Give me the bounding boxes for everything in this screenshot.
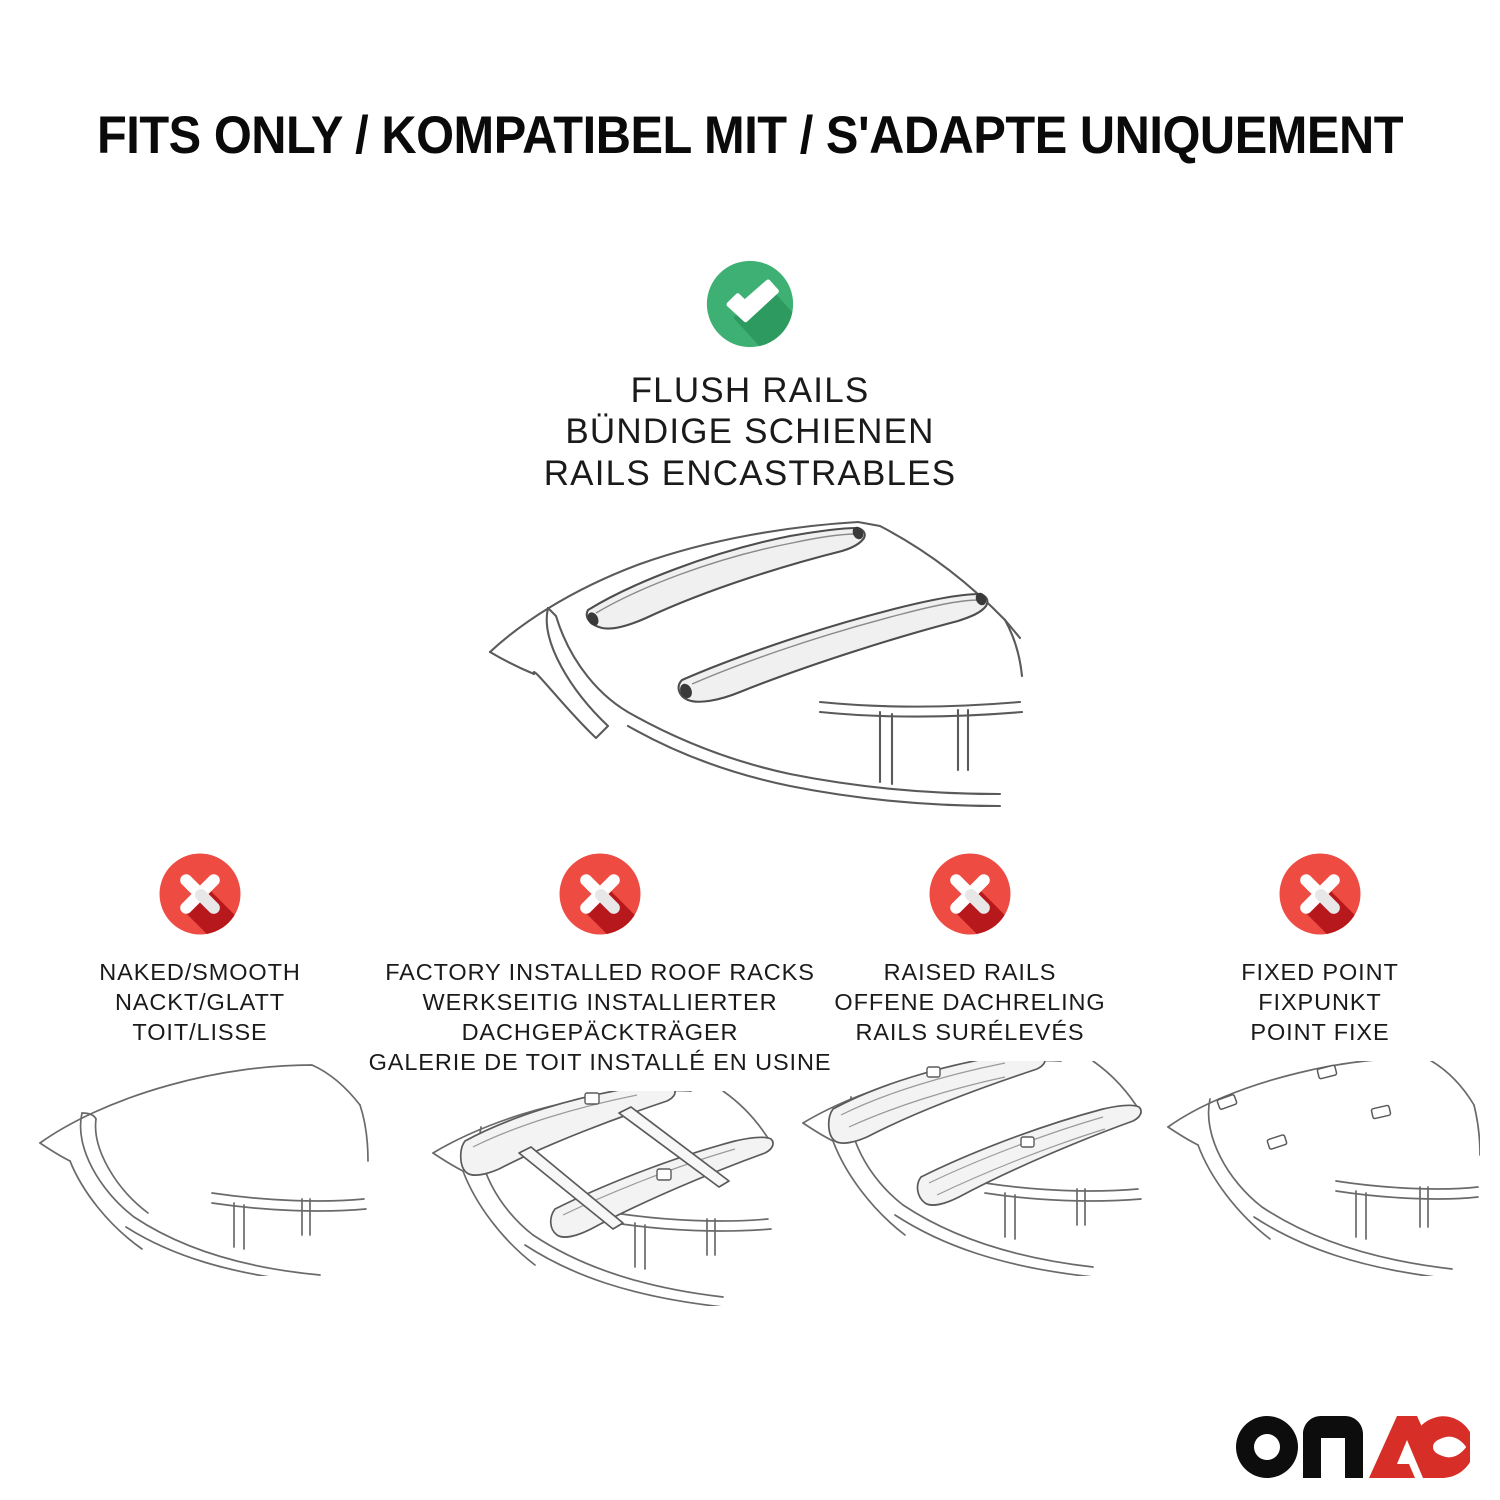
compatible-labels: FLUSH RAILS BÜNDIGE SCHIENEN RAILS ENCAS… <box>544 370 957 494</box>
incompatible-item-fixed-point: FIXED POINT FIXPUNKT POINT FIXE <box>1140 848 1500 1311</box>
incompatible-item-factory-racks: FACTORY INSTALLED ROOF RACKS WERKSEITIG … <box>400 848 800 1311</box>
label-line-en: FACTORY INSTALLED ROOF RACKS <box>369 957 832 987</box>
car-roof-factory-racks-illustration <box>423 1091 778 1311</box>
label-line-de: OFFENE DACHRELING <box>834 987 1105 1017</box>
red-x-icon <box>1274 848 1366 945</box>
compatible-label-fr: RAILS ENCASTRABLES <box>544 453 957 494</box>
label-line-de: FIXPUNKT <box>1241 987 1398 1017</box>
label-line-fr: POINT FIXE <box>1241 1017 1398 1047</box>
incompatible-label-fixed-point: FIXED POINT FIXPUNKT POINT FIXE <box>1241 957 1398 1047</box>
label-line-fr: RAILS SURÉLEVÉS <box>834 1017 1105 1047</box>
compatible-label-de: BÜNDIGE SCHIENEN <box>544 411 957 452</box>
car-roof-naked-smooth-illustration <box>30 1061 370 1281</box>
car-roof-flush-rails-illustration <box>460 512 1040 817</box>
omac-logo <box>1235 1412 1470 1478</box>
incompatible-section: NAKED/SMOOTH NACKT/GLATT TOIT/LISSE <box>0 848 1500 1311</box>
label-line-de: NACKT/GLATT <box>99 987 300 1017</box>
incompatible-item-raised-rails: RAISED RAILS OFFENE DACHRELING RAILS SUR… <box>800 848 1140 1311</box>
compatible-label-en: FLUSH RAILS <box>544 370 957 411</box>
red-x-icon <box>924 848 1016 945</box>
page-title: FITS ONLY / KOMPATIBEL MIT / S'ADAPTE UN… <box>60 105 1440 166</box>
incompatible-item-naked-smooth: NAKED/SMOOTH NACKT/GLATT TOIT/LISSE <box>0 848 400 1311</box>
omac-logo-mark <box>1235 1416 1470 1478</box>
compatible-section: FLUSH RAILS BÜNDIGE SCHIENEN RAILS ENCAS… <box>0 255 1500 817</box>
red-x-icon <box>554 848 646 945</box>
incompatible-label-raised-rails: RAISED RAILS OFFENE DACHRELING RAILS SUR… <box>834 957 1105 1047</box>
green-check-icon <box>701 255 799 358</box>
incompatible-label-naked-smooth: NAKED/SMOOTH NACKT/GLATT TOIT/LISSE <box>99 957 300 1047</box>
label-line-de-2: DACHGEPÄCKTRÄGER <box>369 1017 832 1047</box>
fitment-compatibility-graphic: FITS ONLY / KOMPATIBEL MIT / S'ADAPTE UN… <box>0 0 1500 1500</box>
car-roof-fixed-point-illustration <box>1160 1061 1480 1281</box>
label-line-fr: TOIT/LISSE <box>99 1017 300 1047</box>
label-line-fr: GALERIE DE TOIT INSTALLÉ EN USINE <box>369 1047 832 1077</box>
car-roof-raised-rails-illustration <box>793 1061 1148 1281</box>
label-line-de-1: WERKSEITIG INSTALLIERTER <box>369 987 832 1017</box>
label-line-en: RAISED RAILS <box>834 957 1105 987</box>
label-line-en: NAKED/SMOOTH <box>99 957 300 987</box>
red-x-icon <box>154 848 246 945</box>
incompatible-label-factory-racks: FACTORY INSTALLED ROOF RACKS WERKSEITIG … <box>369 957 832 1077</box>
label-line-en: FIXED POINT <box>1241 957 1398 987</box>
